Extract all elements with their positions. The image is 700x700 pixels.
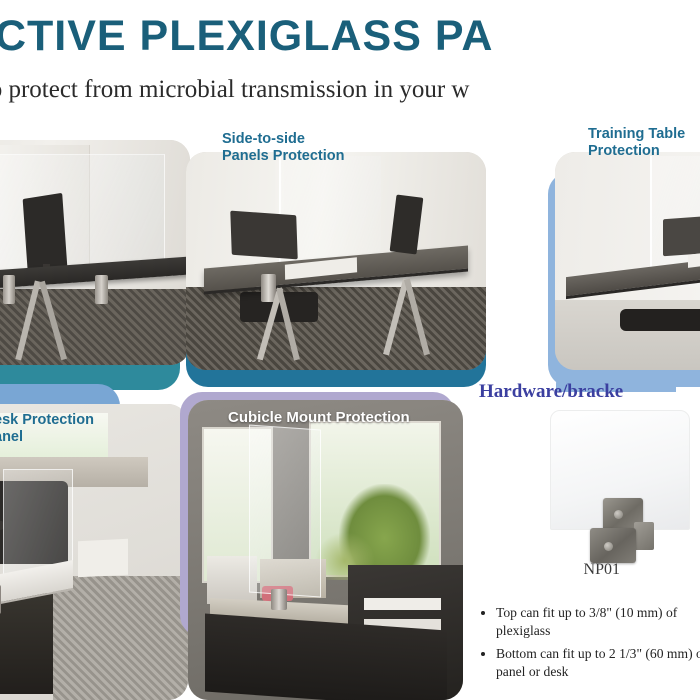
caption-cubicle-mount: Cubicle Mount Protection: [228, 409, 468, 426]
photo-side-to-side: [186, 152, 486, 370]
page-title: TECTIVE PLEXIGLASS PA: [0, 14, 700, 59]
plexiglass-panel: [249, 425, 321, 598]
box: [78, 539, 128, 577]
scene-training-table: [555, 152, 700, 370]
bracket-screw-bottom: [604, 542, 613, 551]
carpet-floor: [53, 576, 188, 700]
scene-office-desk: [0, 140, 190, 365]
scene-front-desk: [0, 404, 188, 700]
office-chair: [620, 309, 700, 331]
photo-desk-protection: [0, 140, 190, 365]
photo-training-table: [555, 152, 700, 370]
clamp-bracket: [0, 585, 1, 615]
photo-cubicle-mount: [188, 400, 463, 700]
list-item: Bottom can fit up to 2 1/3" (60 mm) of p…: [496, 645, 700, 681]
desk-body: [0, 593, 53, 694]
hardware-spec-list: Top can fit up to 3/8" (10 mm) of plexig…: [482, 604, 700, 686]
scene-cubicle: [188, 400, 463, 700]
monitor: [23, 193, 68, 274]
hardware-part-number: NP01: [530, 561, 620, 579]
bracket-side: [634, 522, 654, 550]
clamp-bracket: [271, 589, 288, 610]
page-subtitle: d to protect from microbial transmission…: [0, 76, 700, 104]
monitor: [663, 215, 700, 257]
photo-hardware-bracket: [540, 410, 700, 560]
clamp-bracket-right: [95, 275, 108, 304]
carpet-floor: [186, 287, 486, 370]
photo-front-desk: [0, 404, 188, 700]
paper-tray-1: [364, 598, 441, 610]
clamp-bracket-left: [3, 275, 16, 304]
poster-page: TECTIVE PLEXIGLASS PA d to protect from …: [0, 0, 700, 700]
caption-side-to-side: Side-to-side Panels Protection: [222, 131, 412, 165]
bracket-screw-top: [614, 510, 623, 519]
list-item: Top can fit up to 3/8" (10 mm) of plexig…: [496, 604, 700, 640]
bracket-bottom: [590, 528, 636, 563]
hardware-title: Hardware/bracke: [479, 381, 700, 403]
caption-training-table: Training Table Protection: [588, 126, 700, 160]
caption-front-desk: esk Protection anel: [0, 412, 174, 446]
monitor-left: [230, 211, 297, 259]
scene-side-to-side-desks: [186, 152, 486, 370]
